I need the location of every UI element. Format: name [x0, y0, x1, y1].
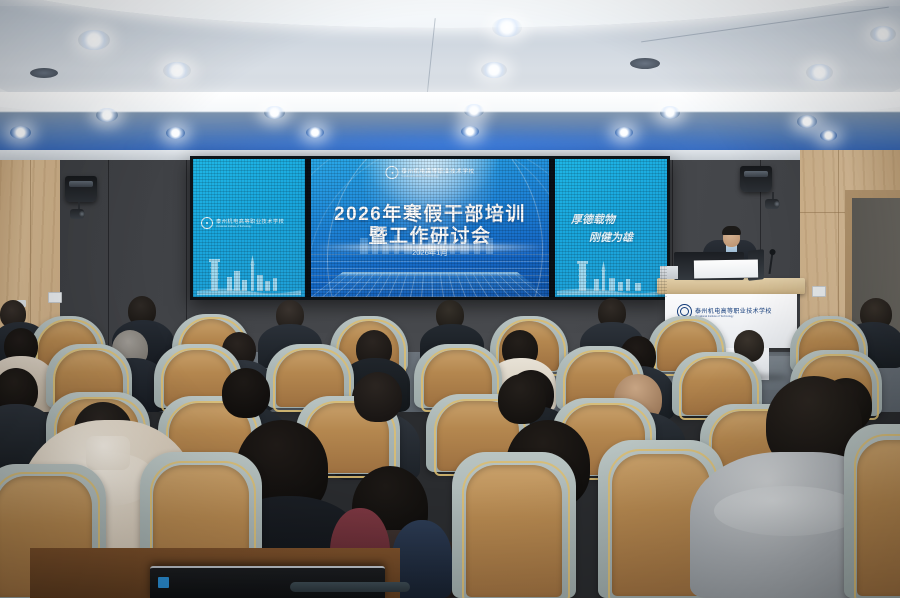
downlight-icon	[163, 62, 191, 79]
screen-left-logo-en: Vocational Institute of Technology	[216, 225, 284, 228]
podium-laptop[interactable]	[660, 266, 678, 279]
calligraphy-line1: 厚德载物	[571, 211, 615, 227]
downlight-icon	[264, 106, 285, 119]
foreground-laptop[interactable]	[150, 566, 385, 598]
led-screen-surface: 泰州机电高等职业技术学校 Vocational Institute of Tec…	[193, 159, 667, 297]
attendee-head	[354, 372, 402, 422]
downlight-icon	[870, 26, 896, 42]
camera-lens-icon	[774, 201, 780, 207]
camera-icon	[70, 209, 84, 219]
camera-lens-icon	[79, 211, 85, 217]
screen-left-logo: 泰州机电高等职业技术学校 Vocational Institute of Tec…	[201, 217, 284, 229]
screen-center-logo: 泰州机电高等职业技术学校 Vocational Institute of Tec…	[385, 166, 474, 179]
wall-speaker-right	[740, 166, 772, 192]
skyline-graphic-right	[557, 249, 665, 295]
speaker-grille	[69, 181, 93, 187]
wall-speaker-left	[65, 176, 97, 202]
presenter-hair	[722, 226, 741, 235]
auditorium-photo: 泰州机电高等职业技术学校 Vocational Institute of Tec…	[0, 0, 900, 598]
downlight-icon	[820, 130, 837, 141]
light-switch[interactable]	[48, 292, 62, 303]
downlight-icon	[492, 18, 522, 37]
air-vent-icon	[630, 58, 660, 69]
screen-left-logo-zh: 泰州机电高等职业技术学校	[216, 218, 284, 225]
screen-panel-left: 泰州机电高等职业技术学校 Vocational Institute of Tec…	[193, 159, 305, 297]
downlight-icon	[481, 62, 507, 78]
ceiling	[0, 0, 900, 160]
puffer-pocket	[86, 436, 130, 470]
screen-panel-center: 泰州机电高等职业技术学校 Vocational Institute of Tec…	[311, 159, 549, 297]
laptop-screen-icon	[158, 577, 169, 588]
screen-panel-right: 厚德载物 刚健为雄	[555, 159, 667, 297]
downlight-icon	[797, 115, 817, 128]
screen-center-logo-zh: 泰州机电高等职业技术学校	[401, 167, 474, 175]
speaker-grille	[744, 171, 768, 177]
puffer-panel	[714, 486, 862, 536]
downlight-icon	[464, 104, 484, 117]
downlight-icon	[615, 127, 633, 138]
auditorium-seat[interactable]	[452, 452, 576, 598]
seat-trim	[854, 434, 900, 598]
camera-icon	[765, 199, 779, 209]
downlight-icon	[96, 108, 118, 122]
led-video-wall[interactable]: 泰州机电高等职业技术学校 Vocational Institute of Tec…	[190, 156, 670, 300]
speech-notes	[694, 259, 758, 278]
calligraphy-line2: 刚健为雄	[589, 229, 633, 245]
light-switch[interactable]	[812, 286, 826, 297]
lectern-logo-zh: 泰州机电高等职业技术学校	[695, 306, 772, 315]
attendee-head	[498, 374, 546, 424]
screen-grid-rows	[311, 250, 549, 297]
skyline-graphic-left	[197, 247, 301, 295]
attendee-head	[222, 368, 270, 418]
university-seal-icon	[385, 166, 398, 179]
downlight-icon	[166, 127, 185, 139]
downlight-icon	[78, 30, 110, 50]
air-vent-icon	[30, 68, 58, 78]
laptop-taskbar	[290, 582, 410, 592]
lectern-counter	[657, 278, 805, 294]
lectern-logo-en: Vocational Institute of Technology	[695, 315, 772, 318]
downlight-icon	[806, 64, 833, 81]
university-seal-icon	[201, 217, 213, 229]
wall-seam	[108, 160, 109, 350]
downlight-icon	[461, 126, 479, 137]
screen-center-logo-en: Vocational Institute of Technology	[401, 175, 474, 178]
seat-trim	[462, 461, 570, 598]
auditorium-seat[interactable]	[844, 424, 900, 598]
downlight-icon	[660, 106, 680, 119]
downlight-icon	[10, 126, 31, 139]
downlight-icon	[306, 127, 324, 138]
